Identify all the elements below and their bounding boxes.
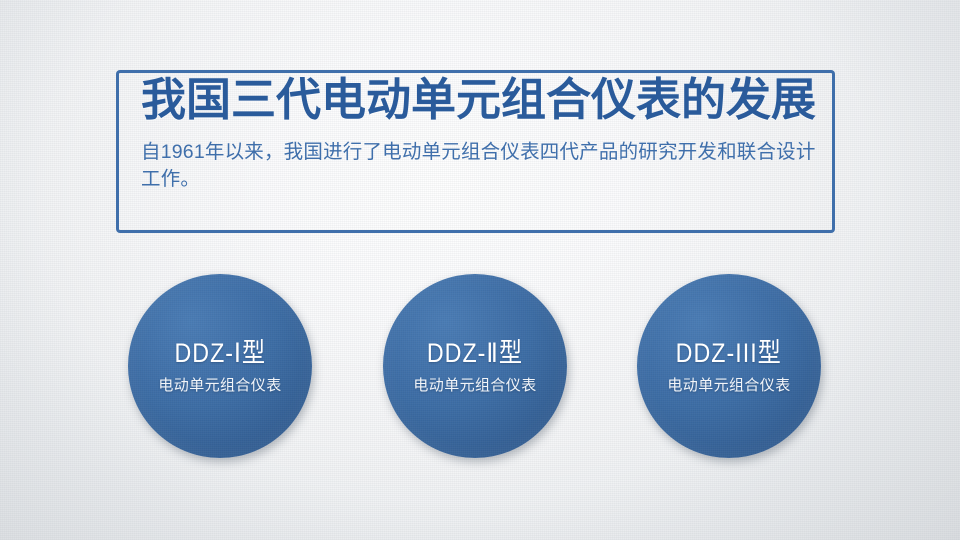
page-title: 我国三代电动单元组合仪表的发展 [141,76,816,123]
circle-item-ddz-1[interactable]: DDZ-Ⅰ型 电动单元组合仪表 [128,274,312,458]
circle-title: DDZ-Ⅰ型 [174,340,266,367]
circle-item-ddz-2[interactable]: DDZ-Ⅱ型 电动单元组合仪表 [383,274,567,458]
circle-subtitle: 电动单元组合仪表 [667,378,790,393]
circle-subtitle: 电动单元组合仪表 [413,378,536,393]
presentation-slide: 我国三代电动单元组合仪表的发展 自1961年以来，我国进行了电动单元组合仪表四代… [0,0,960,540]
circle-subtitle: 电动单元组合仪表 [158,378,281,393]
circle-title: DDZ-Ⅱ型 [427,340,523,367]
circle-title: DDZ-III型 [676,340,782,367]
circle-item-ddz-3[interactable]: DDZ-III型 电动单元组合仪表 [637,274,821,458]
header-frame: 我国三代电动单元组合仪表的发展 自1961年以来，我国进行了电动单元组合仪表四代… [116,70,835,233]
page-subtitle: 自1961年以来，我国进行了电动单元组合仪表四代产品的研究开发和联合设计工作。 [141,139,817,193]
